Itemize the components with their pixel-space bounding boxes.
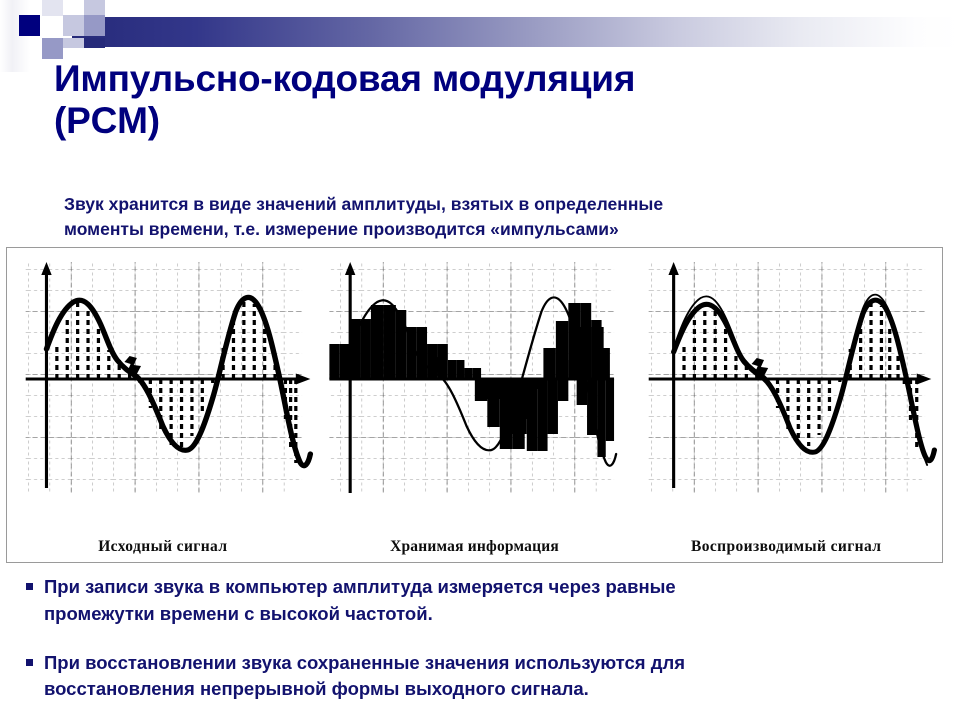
header-gradient-bar	[72, 17, 960, 47]
slide-subtitle: Звук хранится в виде значений амплитуды,…	[64, 192, 944, 242]
panel-caption-reproduced: Воспроизводимый сигнал	[630, 538, 942, 556]
square-light-lower	[63, 38, 84, 48]
chart-panel-original-signal: Исходный сигнал	[7, 248, 319, 562]
bullet-text-2: При восстановлении звука сохраненные зна…	[44, 650, 685, 704]
square-lavender-mid	[84, 15, 105, 36]
panel-caption-original: Исходный сигнал	[7, 538, 319, 556]
square-bullet-icon	[26, 659, 33, 666]
bullet-item-1: При записи звука в компьютер амплитуда и…	[26, 574, 936, 628]
square-navy-block	[84, 38, 105, 48]
original-signal-plot	[7, 248, 319, 520]
x-axis-arrow	[296, 374, 311, 385]
header-fade-left	[0, 0, 30, 72]
square-mid-lavender	[42, 38, 63, 59]
slide-title: Импульсно-кодовая модуляция (PCM)	[54, 58, 914, 142]
chart-panel-stored-information: Хранимая информация	[319, 248, 631, 562]
pcm-figure: Исходный сигнал	[6, 247, 943, 563]
square-bullet-icon	[26, 583, 33, 590]
square-pale-top	[42, 0, 63, 16]
stored-information-plot	[319, 248, 631, 520]
square-dark-navy	[19, 15, 40, 36]
square-top-pale	[84, 0, 105, 16]
panel-caption-stored: Хранимая информация	[319, 538, 631, 556]
bullet-item-2: При восстановлении звука сохраненные зна…	[26, 650, 936, 704]
square-light-upper	[63, 15, 84, 36]
chart-panel-reproduced-signal: Воспроизводимый сигнал	[630, 248, 942, 562]
reproduced-signal-plot	[630, 248, 942, 520]
bullet-text-1: При записи звука в компьютер амплитуда и…	[44, 574, 676, 628]
bullet-list: При записи звука в компьютер амплитуда и…	[26, 574, 936, 725]
